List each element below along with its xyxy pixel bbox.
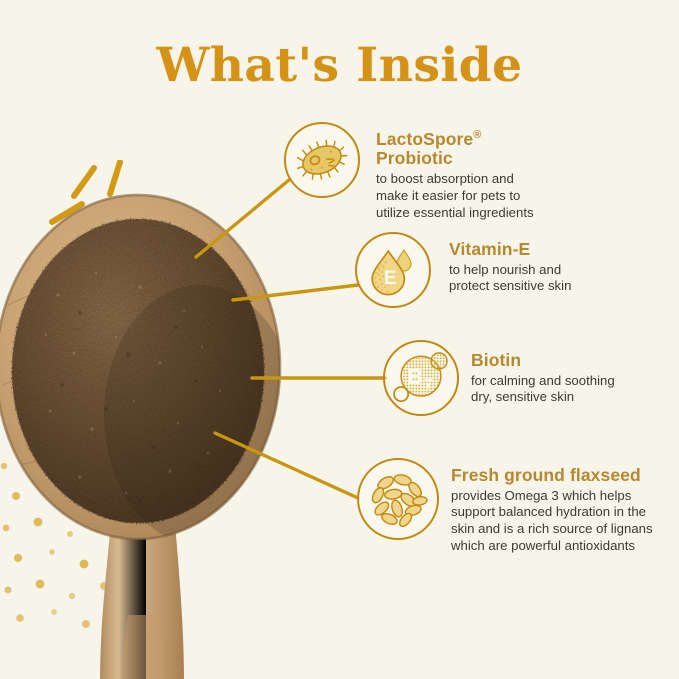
callout-vitamin-e-heading: Vitamin-E xyxy=(449,240,571,260)
callout-lactospore-text: LactoSpore® Probiotic to boost absorptio… xyxy=(376,129,534,222)
biotin-letter: B xyxy=(408,366,423,389)
callout-biotin-text: Biotin for calming and soothing dry, sen… xyxy=(471,351,615,406)
page-title: What's Inside xyxy=(0,42,679,89)
callout-vitamin-e-text: Vitamin-E to help nourish and protect se… xyxy=(449,240,571,295)
vitamin-e-letter: E xyxy=(384,268,397,289)
flaxseed-cluster-icon xyxy=(357,458,439,540)
probiotic-bacterium-icon xyxy=(284,122,360,198)
callout-lactospore-heading: LactoSpore® Probiotic xyxy=(376,129,534,169)
callout-flaxseed-body: provides Omega 3 which helps support bal… xyxy=(451,488,653,556)
biotin-subscript: 7 xyxy=(425,376,433,392)
callout-biotin-heading: Biotin xyxy=(471,351,615,371)
infographic-canvas: What's Inside xyxy=(0,0,679,679)
callout-flaxseed-text: Fresh ground flaxseed provides Omega 3 w… xyxy=(451,466,653,555)
callout-lactospore-body: to boost absorption and make it easier f… xyxy=(376,171,534,222)
callout-vitamin-e-body: to help nourish and protect sensitive sk… xyxy=(449,262,571,296)
callout-biotin-body: for calming and soothing dry, sensitive … xyxy=(471,373,615,407)
vitamin-e-droplet-icon: E xyxy=(355,232,431,308)
wooden-spoon-with-flaxseed xyxy=(0,185,318,679)
biotin-b7-molecule-icon: B 7 xyxy=(383,340,459,416)
callout-flaxseed-heading: Fresh ground flaxseed xyxy=(451,466,653,486)
